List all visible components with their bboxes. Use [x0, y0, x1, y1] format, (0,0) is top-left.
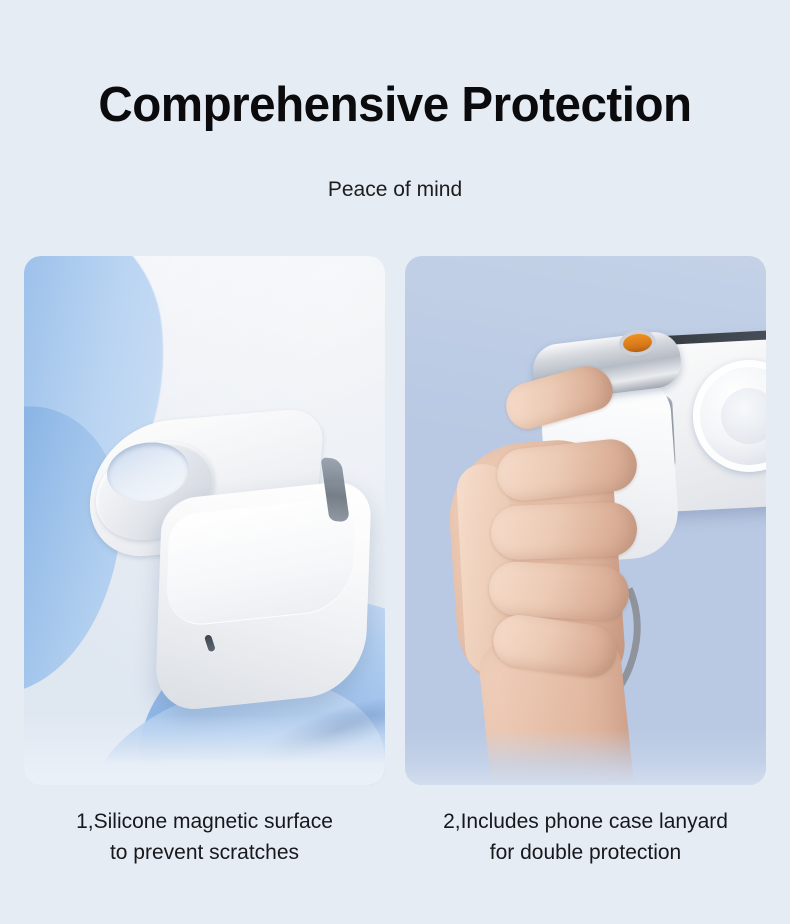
page-subtitle: Peace of mind [0, 176, 790, 204]
feature-card-silicone[interactable] [24, 256, 385, 785]
hand-ring-finger [488, 560, 631, 621]
caption-line-2: to prevent scratches [24, 837, 385, 868]
caption-line-1: 2,Includes phone case lanyard [405, 806, 766, 837]
feature-card-group: TELESIN [24, 256, 766, 785]
hand-middle-finger [490, 501, 638, 560]
caption-lanyard: 2,Includes phone case lanyard for double… [405, 806, 766, 868]
hand-holding-grip [445, 368, 681, 785]
caption-silicone: 1,Silicone magnetic surface to prevent s… [24, 806, 385, 868]
card-bottom-fade [24, 715, 385, 785]
caption-line-1: 1,Silicone magnetic surface [24, 806, 385, 837]
card-bottom-fade [405, 729, 766, 785]
caption-line-2: for double protection [405, 837, 766, 868]
feature-card-lanyard[interactable]: TELESIN [405, 256, 766, 785]
product-magnetic-grip [81, 400, 365, 692]
hand-thumb [501, 360, 617, 434]
page-title: Comprehensive Protection [12, 76, 778, 134]
